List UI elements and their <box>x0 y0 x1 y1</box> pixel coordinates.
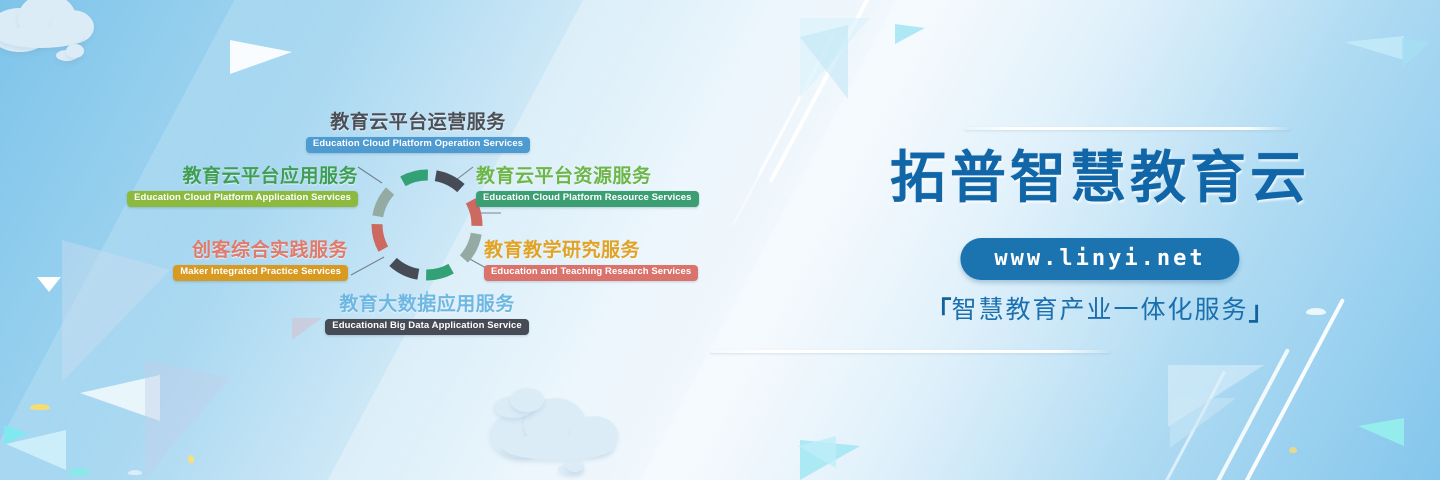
label-bigdata-badge: Educational Big Data Application Service <box>325 319 528 335</box>
label-research-badge: Education and Teaching Research Services <box>484 265 698 281</box>
label-application-badge: Education Cloud Platform Application Ser… <box>127 191 358 207</box>
website-pill[interactable]: www.linyi.net <box>960 238 1239 280</box>
label-maker-cn: 创客综合实践服务 <box>8 241 348 261</box>
services-diagram: 教育云平台运营服务 Education Cloud Platform Opera… <box>168 105 668 355</box>
donut-ring <box>367 165 487 285</box>
fleck-white-2 <box>128 470 142 475</box>
brand-title: 拓普智慧教育云 <box>760 150 1440 206</box>
fleck-yellow-1 <box>30 404 50 410</box>
triangle-lower-left <box>80 375 160 421</box>
brand-block: 拓普智慧教育云 www.linyi.net 「智慧教育产业一体化服务」 <box>760 0 1440 480</box>
label-bigdata[interactable]: 教育大数据应用服务 Educational Big Data Applicati… <box>267 295 587 335</box>
promotional-banner: 教育云平台运营服务 Education Cloud Platform Opera… <box>0 0 1440 480</box>
label-resource-badge: Education Cloud Platform Resource Servic… <box>476 191 699 207</box>
fleck-yellow-2 <box>188 455 194 463</box>
divider-top <box>965 127 1290 130</box>
divider-bottom <box>710 350 1110 353</box>
bracket-close-icon: 」 <box>1249 296 1275 326</box>
triangle-cyan-left <box>4 425 28 445</box>
label-application[interactable]: 教育云平台应用服务 Education Cloud Platform Appli… <box>0 167 358 207</box>
label-maker[interactable]: 创客综合实践服务 Maker Integrated Practice Servi… <box>8 241 348 281</box>
label-bigdata-cn: 教育大数据应用服务 <box>267 295 587 315</box>
label-operation-cn: 教育云平台运营服务 <box>258 113 578 133</box>
label-operation-badge: Education Cloud Platform Operation Servi… <box>306 137 530 153</box>
bracket-open-icon: 「 <box>925 296 951 326</box>
label-application-cn: 教育云平台应用服务 <box>0 167 358 187</box>
fleck-cyan-1 <box>68 468 90 476</box>
tagline-text: 智慧教育产业一体化服务 <box>951 295 1248 324</box>
label-operation[interactable]: 教育云平台运营服务 Education Cloud Platform Opera… <box>258 113 578 153</box>
triangle-bottom-left <box>6 430 66 470</box>
label-maker-badge: Maker Integrated Practice Services <box>173 265 348 281</box>
triangle-pale-left-2 <box>145 360 230 478</box>
triangle-top-left <box>230 40 292 74</box>
brand-tagline: 「智慧教育产业一体化服务」 <box>760 290 1440 328</box>
